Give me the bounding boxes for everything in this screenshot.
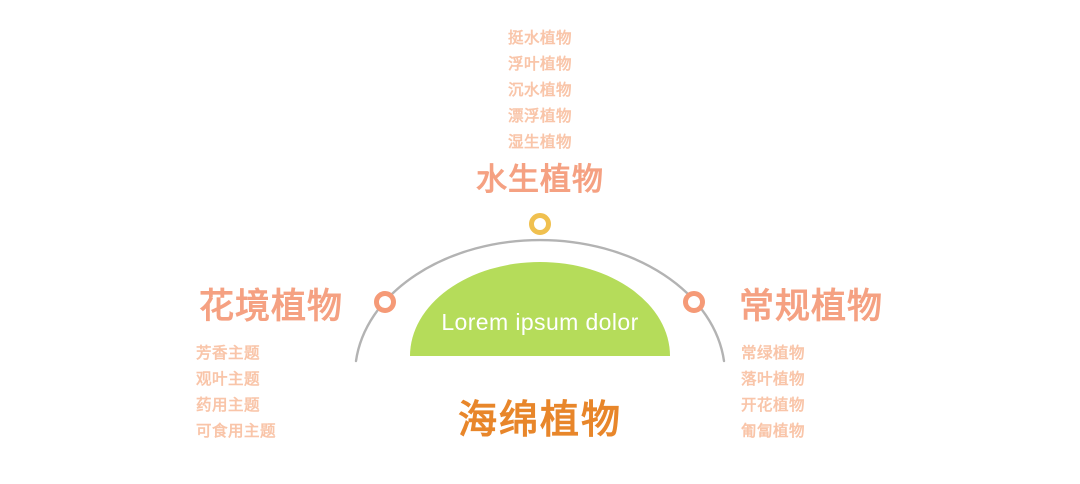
infographic-canvas: 挺水植物 浮叶植物 沉水植物 漂浮植物 湿生植物 水生植物 花境植物 芳香主题 …: [0, 0, 1080, 484]
center-dome-label: Lorem ipsum dolor: [441, 309, 638, 335]
node-marker-right[interactable]: [686, 294, 703, 311]
node-marker-top[interactable]: [532, 216, 549, 233]
root-title: 海绵植物: [0, 401, 1080, 440]
node-marker-left[interactable]: [377, 294, 394, 311]
